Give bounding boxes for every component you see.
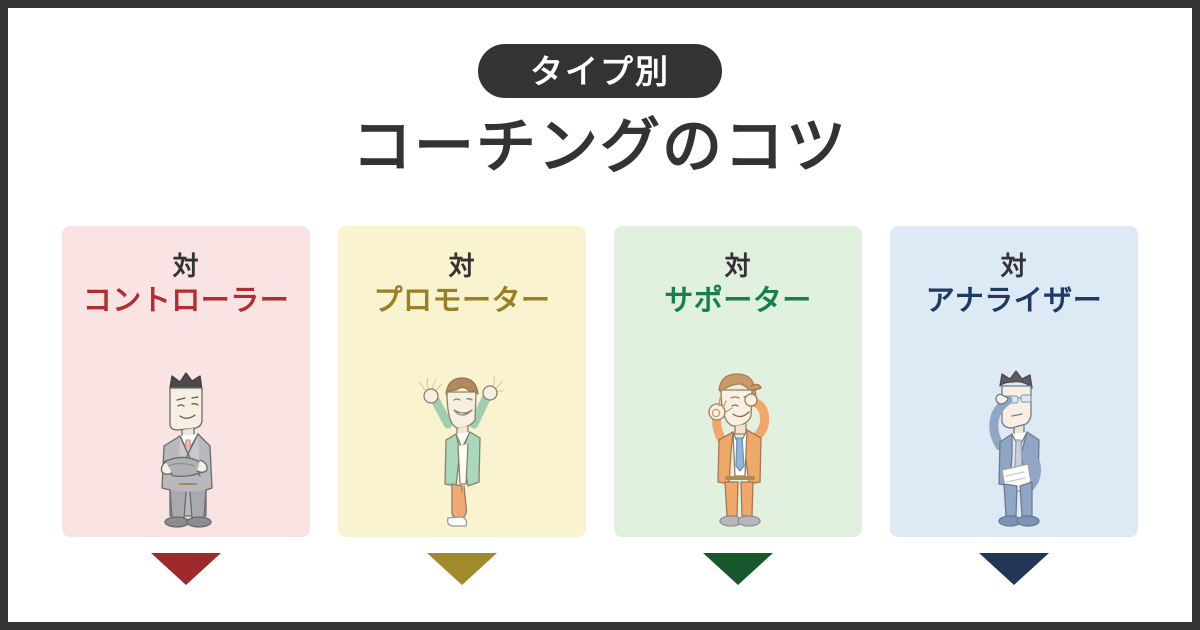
card-arrow-promoter [427,553,497,585]
type-card-analyzer[interactable]: 対 アナライザー [890,226,1138,585]
illustration-promoter [412,327,512,537]
card-arrow-controller [151,553,221,585]
card-prefix-label: 対 [724,252,751,282]
card-type-label: サポーター [664,284,812,319]
page-title: コーチングのコツ [352,112,848,181]
card-body-analyzer[interactable]: 対 アナライザー [890,226,1138,537]
card-arrow-supporter [703,553,773,585]
card-type-label: コントローラー [83,284,290,319]
type-card-promoter[interactable]: 対 プロモーター [338,226,586,585]
poster-frame: タイプ別 コーチングのコツ 対 コントローラー [0,0,1200,630]
illustration-supporter [689,327,787,537]
card-body-supporter[interactable]: 対 サポーター [614,226,862,537]
poster-header: タイプ別 コーチングのコツ [8,8,1192,181]
card-prefix-label: 対 [448,252,475,282]
card-body-controller[interactable]: 対 コントローラー [62,226,310,537]
illustration-controller [140,327,232,537]
card-arrow-analyzer [979,553,1049,585]
illustration-analyzer [966,327,1062,537]
type-card-controller[interactable]: 対 コントローラー [62,226,310,585]
card-prefix-label: 対 [1000,252,1027,282]
type-card-row: 対 コントローラー [62,226,1138,585]
type-card-supporter[interactable]: 対 サポーター [614,226,862,585]
card-type-label: プロモーター [373,284,550,319]
category-badge: タイプ別 [478,44,722,98]
card-body-promoter[interactable]: 対 プロモーター [338,226,586,537]
card-type-label: アナライザー [926,284,1102,319]
card-prefix-label: 対 [172,252,199,282]
